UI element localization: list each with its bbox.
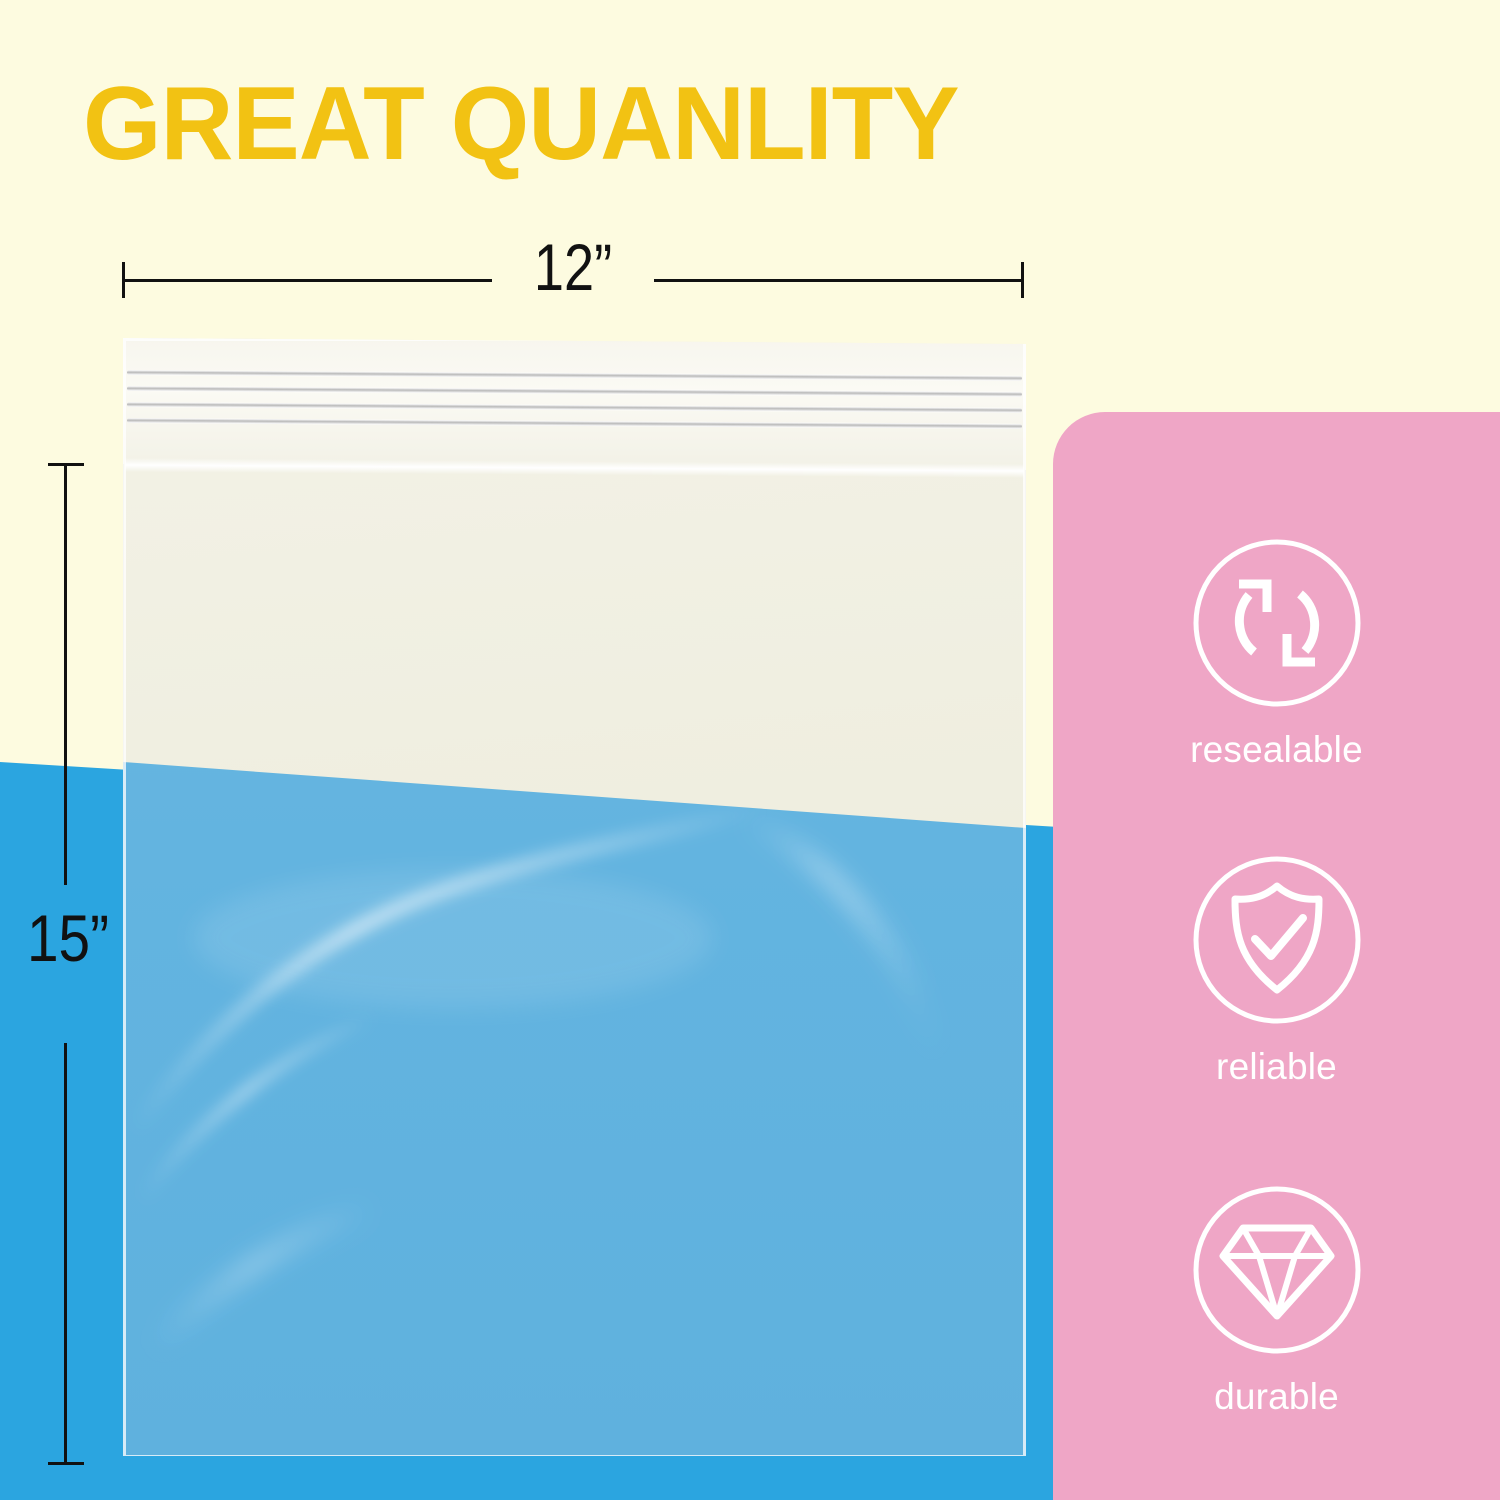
bag-zipper-band	[123, 338, 1026, 470]
height-dimension: 15”	[36, 463, 96, 1465]
refresh-loop-icon	[1191, 537, 1363, 709]
feature-label: resealable	[1053, 731, 1500, 768]
feature-resealable: resealable	[1053, 537, 1500, 768]
feature-label: reliable	[1053, 1048, 1500, 1085]
width-dimension: 12”	[122, 262, 1024, 322]
features-panel: resealable reliable	[1053, 412, 1500, 1500]
diamond-gem-icon	[1191, 1184, 1363, 1356]
zipper-track-line	[127, 386, 1022, 397]
product-infographic: GREAT QUANLITY 12” 15”	[0, 0, 1500, 1500]
feature-label: durable	[1053, 1378, 1500, 1415]
product-zip-bag	[123, 338, 1026, 1458]
page-title: GREAT QUANLITY	[83, 72, 959, 176]
feature-durable: durable	[1053, 1184, 1500, 1415]
width-dimension-label: 12”	[203, 234, 943, 300]
zipper-track-line	[127, 418, 1022, 429]
zipper-track-line	[127, 370, 1022, 381]
height-rule-top	[64, 465, 67, 885]
shield-check-icon	[1191, 854, 1363, 1026]
zipper-track-line	[127, 402, 1022, 413]
feature-reliable: reliable	[1053, 854, 1500, 1085]
height-rule-bottom	[64, 1043, 67, 1463]
height-dimension-label: 15”	[25, 905, 111, 971]
